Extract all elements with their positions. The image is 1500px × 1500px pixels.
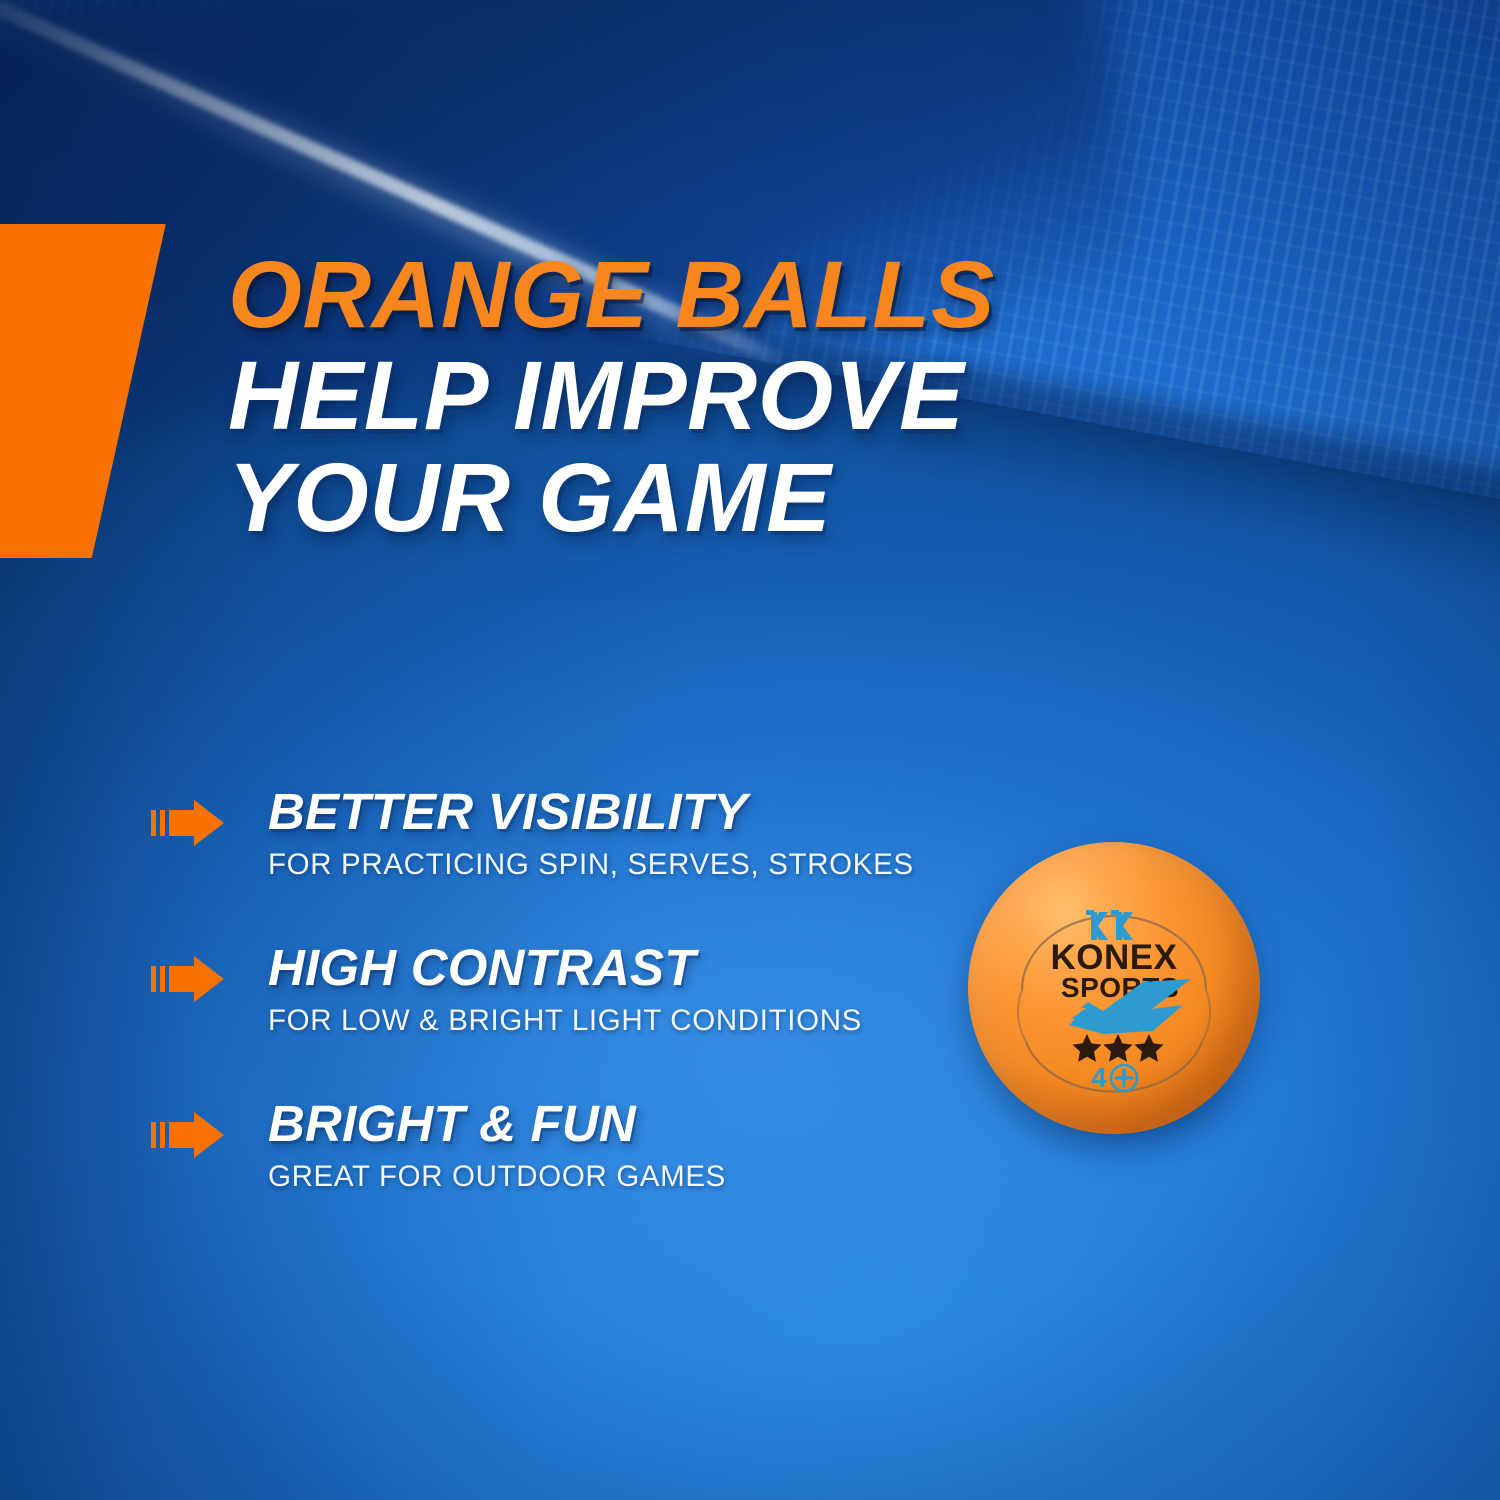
motion-arrow-right-icon — [150, 1110, 246, 1160]
kk-monogram-icon — [1086, 910, 1133, 940]
logo-star-rating — [1072, 1034, 1163, 1062]
feature-subtitle: FOR LOW & BRIGHT LIGHT CONDITIONS — [268, 1004, 940, 1038]
ball-size-mark: 4 — [1091, 1062, 1137, 1093]
feature-subtitle: FOR PRACTICING SPIN, SERVES, STROKES — [268, 848, 940, 882]
size-crosshair-cross — [1116, 1070, 1132, 1086]
feature-title: BRIGHT & FUN — [268, 1098, 940, 1150]
feature-item: BRIGHT & FUN GREAT FOR OUTDOOR GAMES — [150, 1098, 940, 1202]
feature-title: HIGH CONTRAST — [268, 942, 940, 994]
surface-speckle-texture — [0, 0, 1500, 1500]
ball-print-logo: KONEX SPORTS — [968, 842, 1260, 1134]
size-digit-4: 4 — [1091, 1062, 1107, 1093]
feature-item: BETTER VISIBILITY FOR PRACTICING SPIN, S… — [150, 786, 940, 890]
headline-block: ORANGE BALLS HELP IMPROVE YOUR GAME — [228, 248, 1348, 546]
product-banner: ORANGE BALLS HELP IMPROVE YOUR GAME BETT… — [0, 0, 1500, 1500]
feature-title: BETTER VISIBILITY — [268, 786, 940, 838]
feature-subtitle: GREAT FOR OUTDOOR GAMES — [268, 1160, 940, 1194]
table-tennis-ball: KONEX SPORTS — [968, 842, 1260, 1134]
headline-line-2: HELP IMPROVE — [228, 348, 1348, 444]
headline-line-1: ORANGE BALLS — [228, 248, 1348, 342]
feature-list: BETTER VISIBILITY FOR PRACTICING SPIN, S… — [150, 786, 940, 1202]
motion-arrow-right-icon — [150, 954, 246, 1004]
headline-line-3: YOUR GAME — [228, 450, 1348, 546]
product-ball: KONEX SPORTS — [962, 836, 1262, 1176]
background-scene — [0, 0, 1500, 1500]
feature-item: HIGH CONTRAST FOR LOW & BRIGHT LIGHT CON… — [150, 942, 940, 1046]
motion-arrow-right-icon — [150, 798, 246, 848]
